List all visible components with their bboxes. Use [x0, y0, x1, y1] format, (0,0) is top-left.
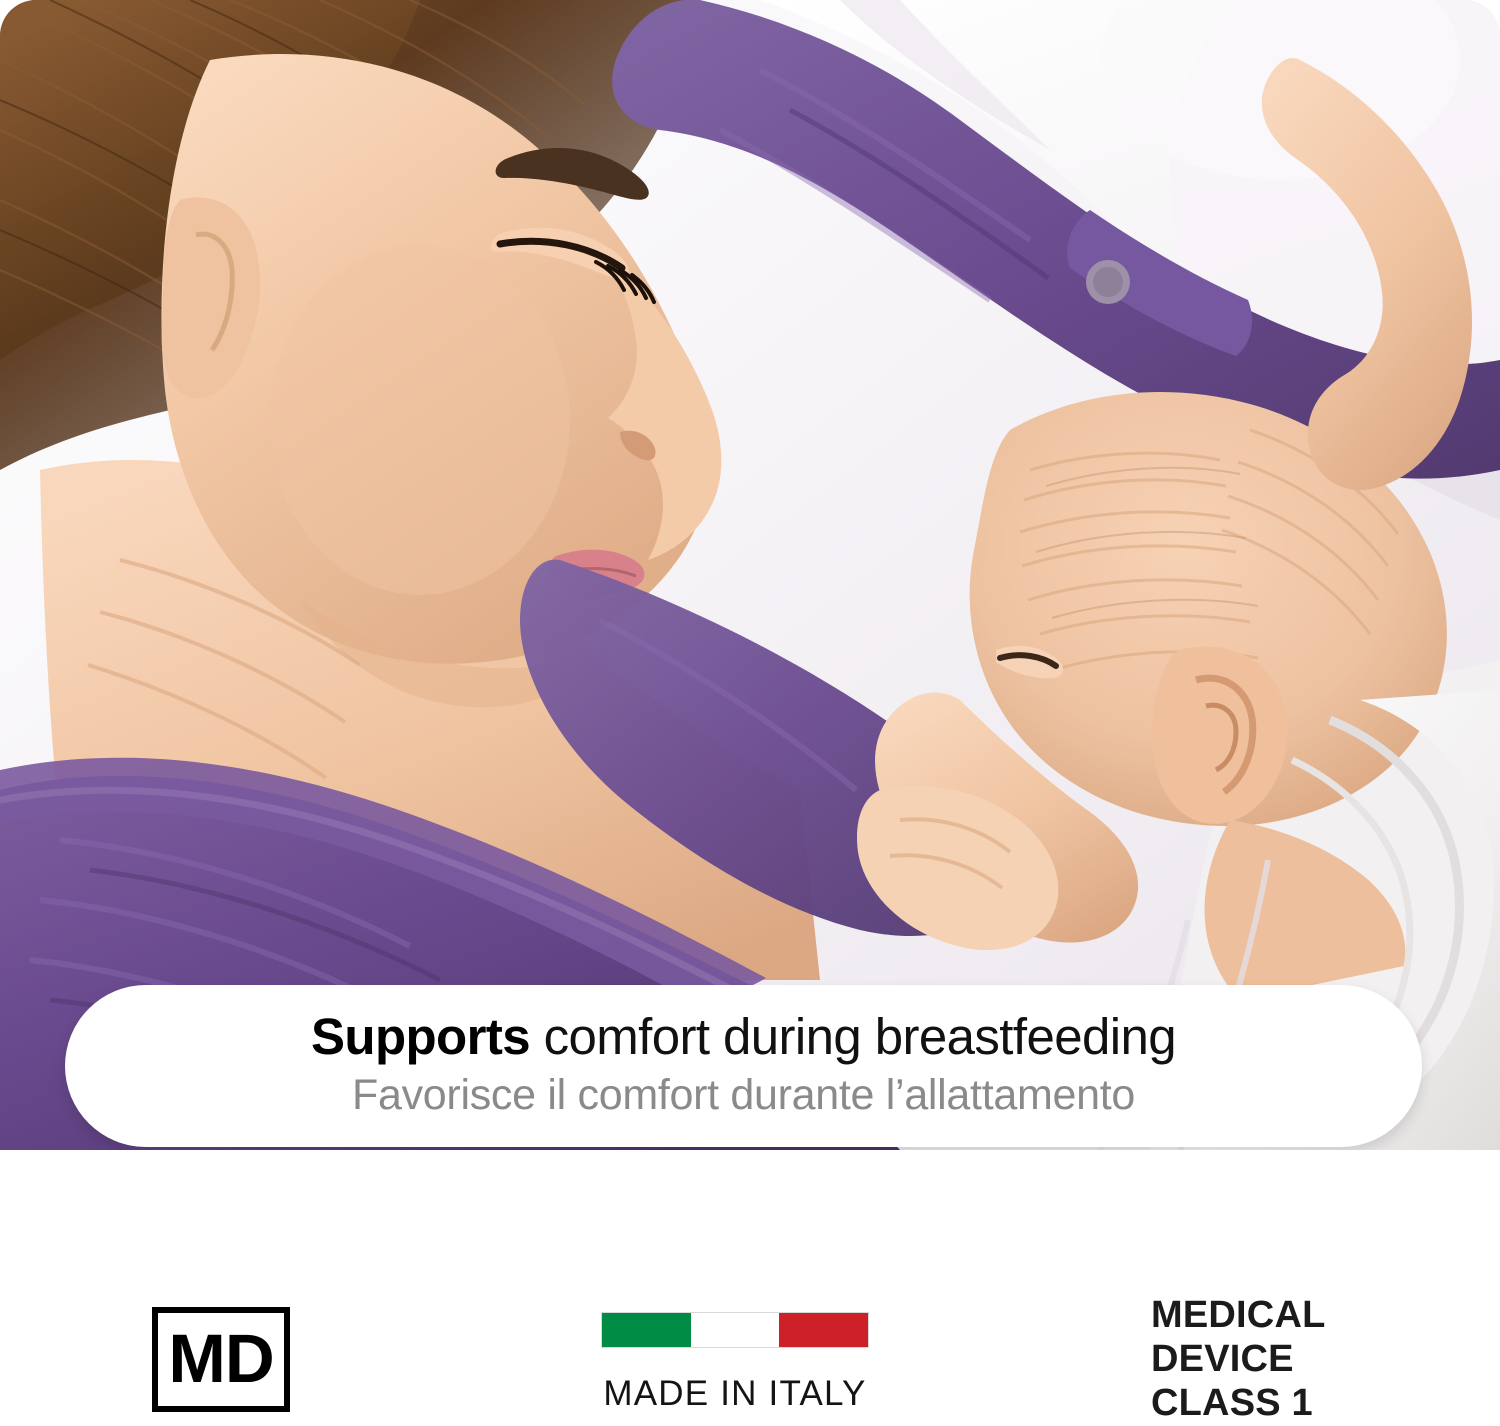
hero-photo [0, 0, 1500, 1150]
breastfeeding-photo-illustration [0, 0, 1500, 1150]
medical-device-line-2: DEVICE [1151, 1337, 1326, 1381]
italian-flag-icon [601, 1312, 869, 1348]
caption-headline-rest: comfort during breastfeeding [530, 1008, 1176, 1065]
caption-headline-en: Supports comfort during breastfeeding [311, 1007, 1176, 1067]
caption-headline-bold: Supports [311, 1008, 530, 1065]
made-in-italy-badge: MADE IN ITALY [601, 1312, 869, 1414]
medical-device-line-1: MEDICAL [1151, 1293, 1326, 1337]
medical-device-class-text: MEDICAL DEVICE CLASS 1 [1151, 1293, 1326, 1425]
flag-stripe-red [779, 1313, 868, 1347]
md-symbol-label: MD [168, 1324, 273, 1393]
flag-stripe-green [602, 1313, 691, 1347]
caption-subline-it: Favorisce il comfort durante l’allattame… [352, 1069, 1135, 1121]
flag-stripe-white [691, 1313, 780, 1347]
md-symbol-badge: MD [152, 1307, 290, 1412]
made-in-italy-label: MADE IN ITALY [601, 1374, 869, 1414]
medical-device-line-3: CLASS 1 [1151, 1381, 1326, 1425]
caption-card: Supports comfort during breastfeeding Fa… [65, 985, 1422, 1147]
product-infographic-page: Supports comfort during breastfeeding Fa… [0, 0, 1500, 1426]
